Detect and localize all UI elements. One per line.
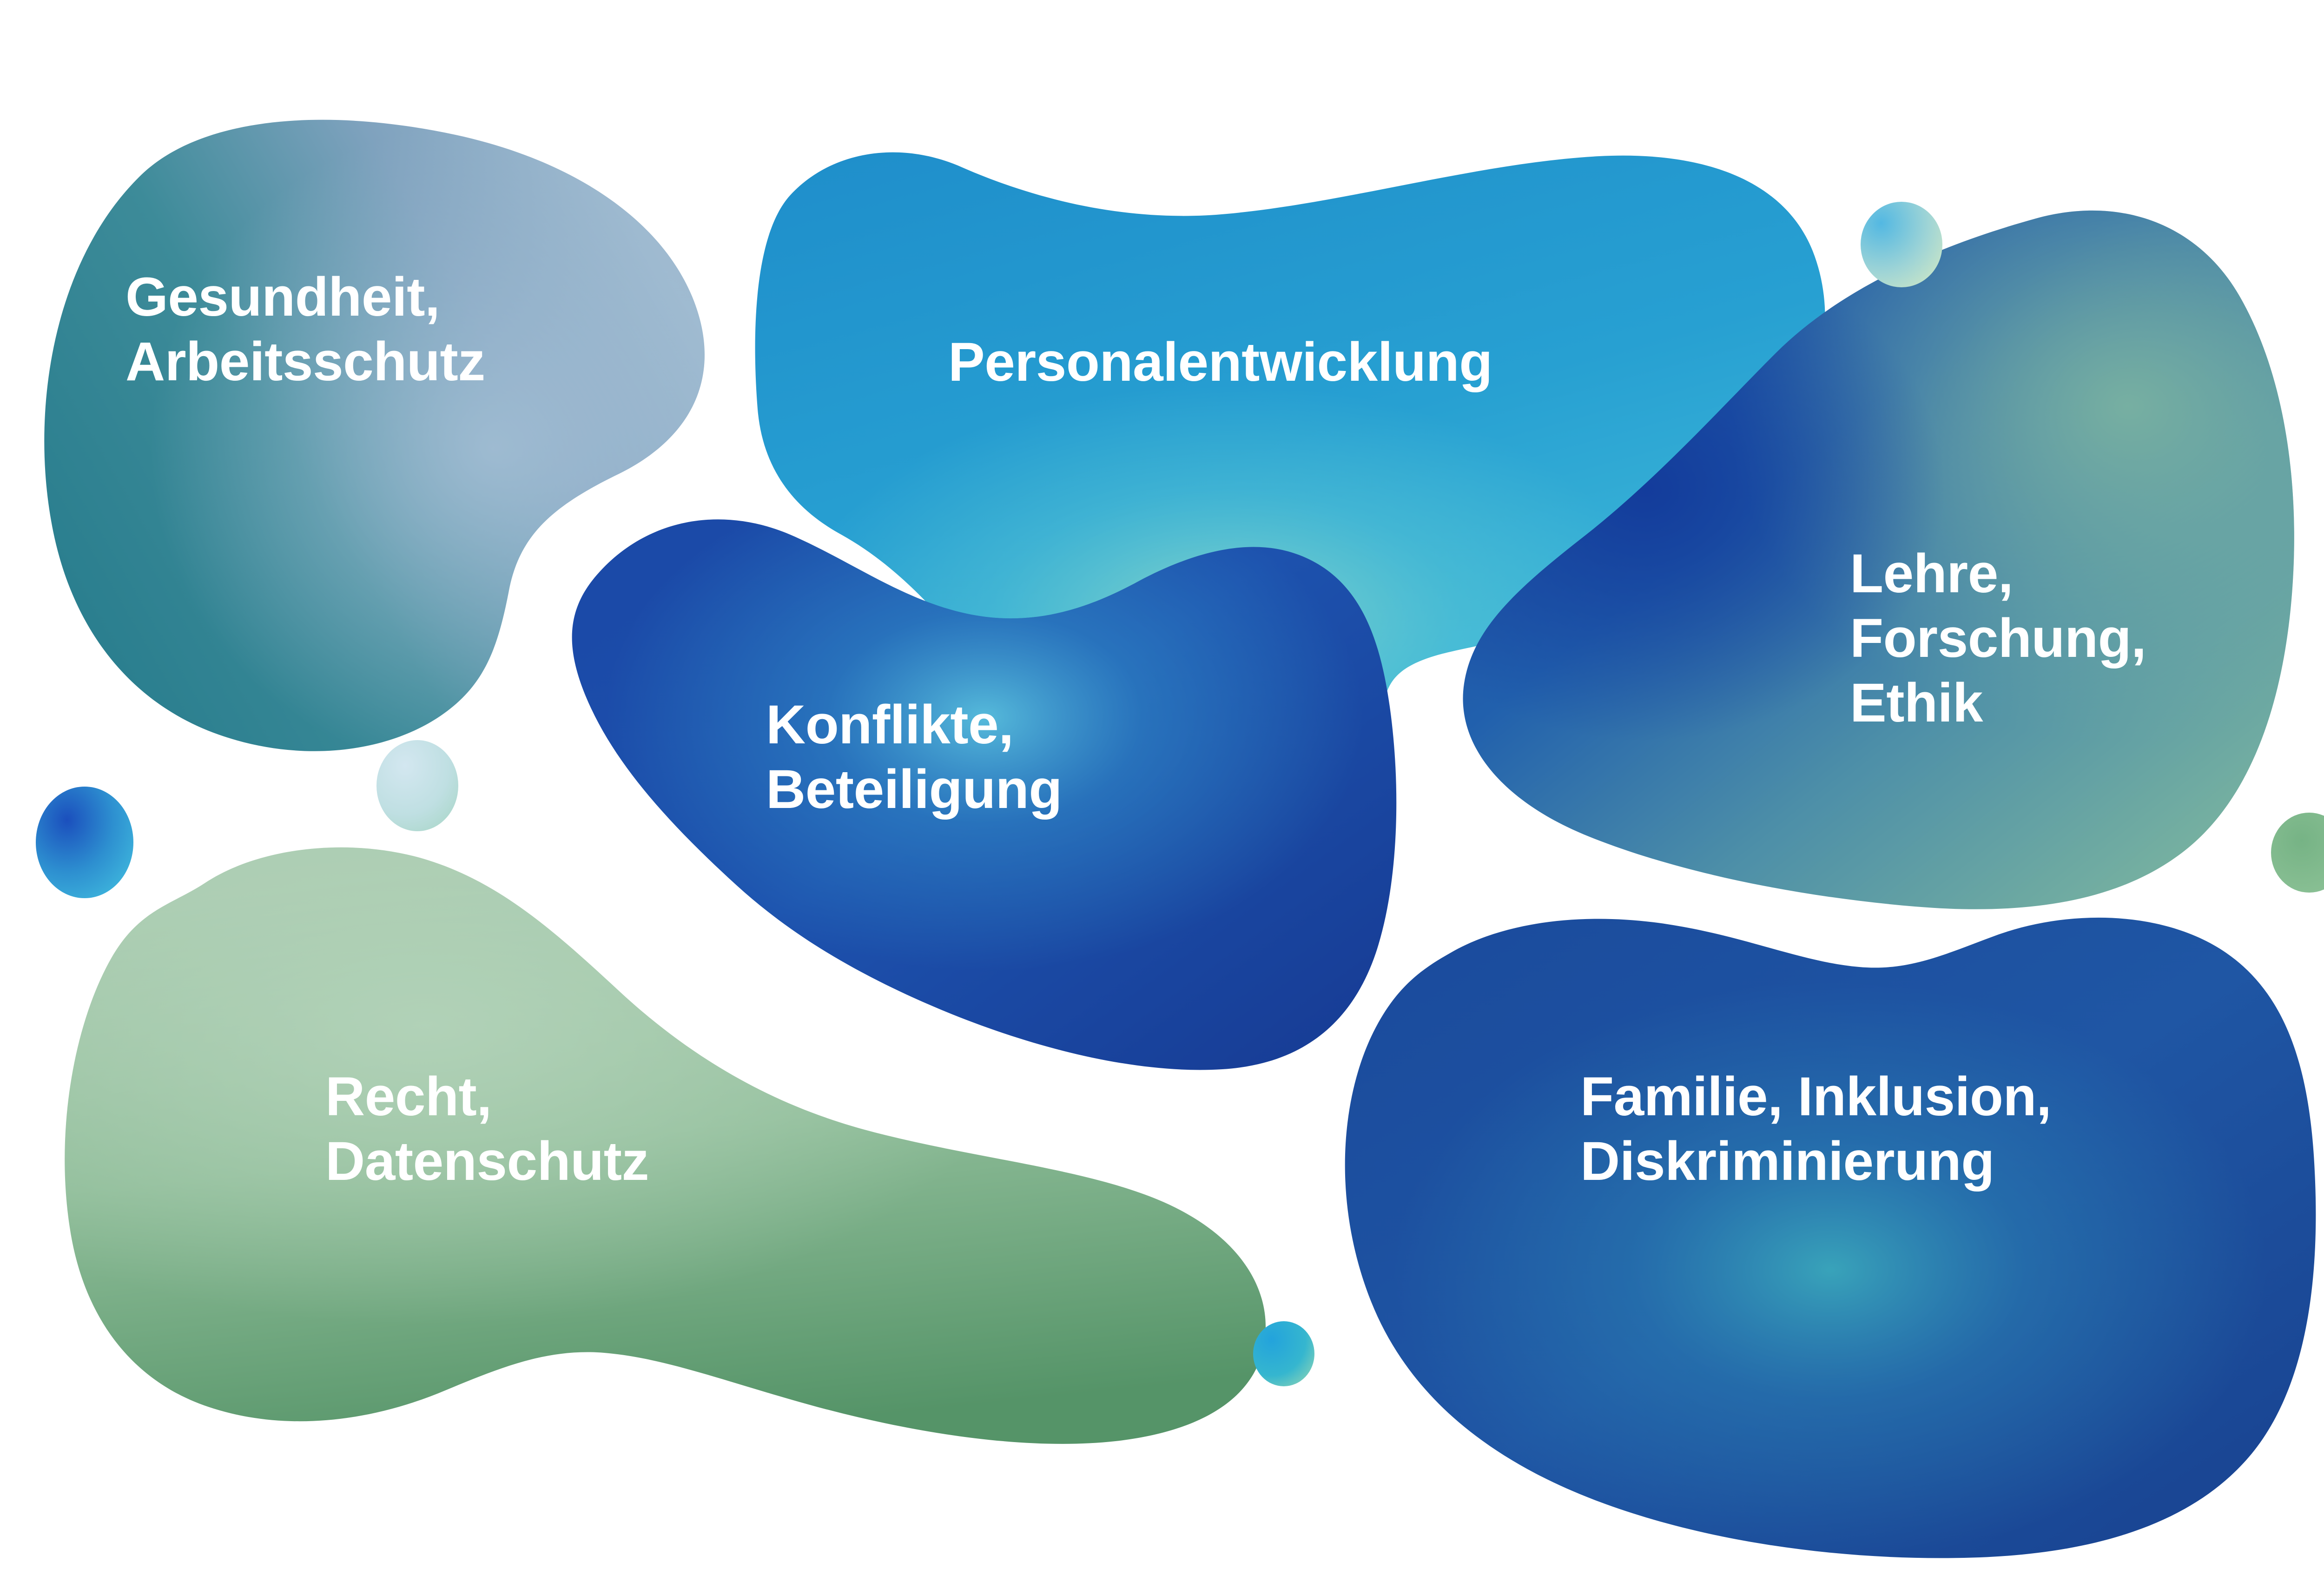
blob-shapes-layer: [0, 0, 2324, 1569]
dot-cyan-bottom: [1253, 1321, 1314, 1386]
dot-green-right: [2271, 813, 2324, 893]
dot-pale-left: [376, 740, 458, 831]
blob-familie[interactable]: [1345, 918, 2316, 1558]
dot-pale-top-right: [1861, 202, 1942, 287]
dot-blue-left: [36, 787, 133, 898]
diagram-canvas: Gesundheit, Arbeitsschutz Personalentwic…: [0, 0, 2324, 1569]
